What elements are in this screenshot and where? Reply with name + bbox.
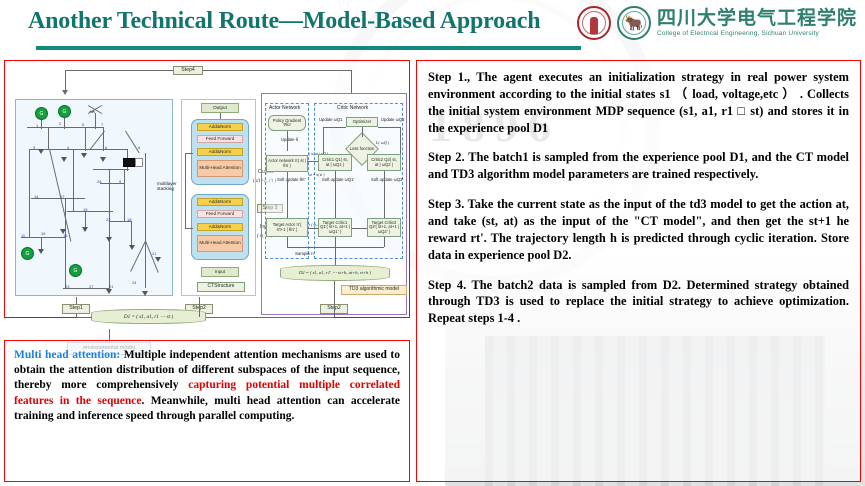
- wire-actor-critic-1: [308, 161, 318, 162]
- ct-add-norm-2: Add&Norm: [197, 148, 243, 156]
- wire-target-critics: [352, 228, 367, 229]
- bus-number: 5: [82, 122, 84, 127]
- diagram-panel: Step4 G G G G: [4, 60, 410, 318]
- critic-update-right: Update ωQ2: [381, 117, 405, 122]
- college-seal-icon: [617, 6, 651, 40]
- loss-expr-label: L( ωQ ): [376, 140, 389, 145]
- ct-add-norm-3: Add&Norm: [197, 198, 243, 206]
- grid-line-11: [145, 153, 146, 288]
- step-1-text: Step 1., The agent executes an initializ…: [428, 69, 849, 136]
- actor-soft-update-label: Soft update θπ': [277, 177, 306, 182]
- load-block-tail: [135, 158, 143, 167]
- bus-number: 16: [63, 233, 67, 238]
- critic1-soft-update-label: Soft update ωQ1': [322, 177, 354, 182]
- slide-root: 1896 Another Technical Route—Model-Based…: [0, 0, 865, 486]
- bus-number: 8: [138, 145, 140, 150]
- bus-number: 22: [106, 217, 110, 222]
- bus-number: 28: [97, 179, 101, 184]
- wire-tc2-down: [384, 237, 385, 247]
- generator-g4: G: [69, 264, 82, 277]
- grid-line-10: [124, 169, 125, 221]
- grid-line-12: [65, 198, 66, 288]
- generator-g2: G: [58, 105, 71, 118]
- bus-number: 21: [152, 251, 156, 256]
- bus-number: 11: [21, 233, 25, 238]
- load-arrow-1: [38, 149, 44, 154]
- grid-line-9: [109, 169, 110, 289]
- wire-step4-right: [203, 70, 351, 71]
- load-arrow-5: [38, 249, 44, 254]
- wire-critic2-soft: [384, 171, 385, 218]
- wire-step2-v: [199, 297, 200, 317]
- load-arrow-9: [106, 289, 112, 294]
- wire-step1-up: [76, 297, 77, 304]
- grid-line-1: [41, 120, 42, 129]
- load-arrow-12: [142, 291, 148, 296]
- experience-pool-d2: D2 = ( s1, a1, r1' ⋯ st+h, at+h, rt+h ): [280, 265, 390, 281]
- logo-text-block: 四川大学电气工程学院 College of Electrical Enginee…: [657, 9, 857, 38]
- experience-pool-d1: D1 = ( s1, a1, r1 ⋯ st ): [91, 309, 206, 324]
- bus-number: 3: [33, 145, 35, 150]
- wire-tc1-down: [335, 237, 336, 247]
- bus-number: 21: [109, 284, 113, 289]
- bus-number: 18: [127, 217, 131, 222]
- step-4-text: Step 4. The batch2 data is sampled from …: [428, 277, 849, 328]
- bus-number: 1: [36, 123, 38, 128]
- ct-structure-label: CTStructure: [197, 282, 245, 292]
- wire-actor-update: [287, 131, 288, 151]
- bus-number: 15: [41, 231, 45, 236]
- wire-step4-to-td3: [351, 70, 352, 93]
- ct-feed-forward-2: Feed Forward: [197, 210, 243, 218]
- critic-network-title: Critic Network: [337, 105, 368, 111]
- load-arrow-7: [82, 227, 88, 232]
- actor-update-label: Update θ: [281, 137, 298, 142]
- bus-number: 7: [101, 122, 103, 127]
- load-arrow-8: [106, 237, 112, 242]
- grid-line-6: [29, 149, 30, 237]
- title-underline: [36, 46, 581, 50]
- university-logo-group: 四川大学电气工程学院 College of Electrical Enginee…: [577, 6, 857, 40]
- slide-header: Another Technical Route—Model-Based Appr…: [0, 0, 865, 58]
- wire-step4-down: [65, 70, 66, 92]
- wire-d1-right: [206, 317, 334, 318]
- td3-model-label: TD3 algorithmic model: [341, 285, 407, 295]
- ct-input-box: Input: [201, 267, 239, 277]
- diagram-step4-box: Step4: [173, 66, 203, 75]
- grid-bus-d: [73, 149, 127, 150]
- wire-to-d2: [335, 247, 336, 265]
- generator-g1: G: [35, 107, 48, 120]
- optimizer-box: Optimizer: [346, 117, 378, 127]
- ct-multilayer-stacking-label: multilayer stacking: [157, 181, 185, 192]
- note-heading: Multi head attention:: [14, 349, 120, 361]
- bottom-step1-box: Step1: [62, 304, 90, 314]
- grid-line-3: [85, 127, 86, 151]
- grid-bus-e: [21, 237, 65, 238]
- wire-opt-left: [323, 127, 346, 128]
- target-actor-box: Target Actor π'( s't+1 | θπ' ): [266, 218, 308, 237]
- wire-stack-loop-v: [185, 153, 186, 228]
- wire-critic1-soft: [335, 171, 336, 218]
- critic2-soft-update-label: Soft update ωQ2': [371, 177, 403, 182]
- note-text: Multi head attention: Multiple independe…: [14, 348, 400, 424]
- load-arrow-4: [100, 157, 106, 162]
- bus-number: 17: [60, 194, 64, 199]
- sichuan-university-seal-icon: [577, 6, 611, 40]
- steps-panel: Step 1., The agent executes an initializ…: [416, 60, 861, 482]
- load-arrow-10: [129, 245, 135, 250]
- grid-bus-g: [67, 211, 113, 212]
- wire-actor-critic-2: [308, 228, 318, 229]
- wire-stack-loop-t: [185, 153, 193, 154]
- bus-number: 2: [59, 121, 61, 126]
- wind-turbine-mast: [95, 113, 96, 129]
- multi-head-attention-note-panel: Multi head attention: Multiple independe…: [4, 340, 410, 482]
- bus-number: 9: [119, 179, 121, 184]
- ct-add-norm-1: Add&Norm: [197, 123, 243, 131]
- grid-line-2: [64, 118, 65, 129]
- wire-step2b-v: [334, 297, 335, 317]
- ct-multi-head-1: Multi-Head Attention: [197, 160, 243, 177]
- sample-n-label: Sample n: [295, 251, 314, 256]
- page-title: Another Technical Route—Model-Based Appr…: [28, 8, 540, 35]
- wire-stack-loop-b: [185, 228, 193, 229]
- bus-number: 19: [83, 207, 87, 212]
- critic-update-left: Update ωQ1: [319, 117, 343, 122]
- wire-actor-soft: [287, 172, 288, 218]
- step-3-text: Step 3. Take the current state as the in…: [428, 196, 849, 263]
- arrow-into-grid: [62, 90, 68, 95]
- ct-output-box: Output: [201, 103, 239, 113]
- logo-english-name: College of Electrical Engineering, Sichu…: [657, 31, 857, 38]
- target-critic1-box: Target Critic1 Q1'( st+1, at+1 | ωQ1' ): [318, 218, 352, 237]
- target-critic2-box: Target Critic2 Q2'( st+1, at+1 | ωQ2' ): [367, 218, 401, 237]
- critic2-box: Critic2 Q2( st, at | ωQ2 ): [367, 154, 401, 171]
- bus-number: 27: [89, 284, 93, 289]
- bus-number: 4: [67, 145, 69, 150]
- load-arrow-2: [81, 153, 87, 158]
- load-arrow-3: [61, 157, 67, 162]
- grid-line-7: [73, 149, 74, 211]
- grid-bus-h: [63, 288, 109, 289]
- bus-number: 14: [34, 194, 38, 199]
- bus-number: 6: [105, 145, 107, 150]
- load-arrow-11: [155, 257, 161, 262]
- ct-multi-head-2: Multi-Head Attention: [197, 235, 243, 252]
- logo-chinese-name: 四川大学电气工程学院: [657, 9, 857, 28]
- grid-line-5: [48, 127, 49, 149]
- grid-bus-f: [31, 198, 85, 199]
- bus-number: 23: [65, 284, 69, 289]
- wire-d2-down: [334, 281, 335, 297]
- grid-line-14: [41, 237, 42, 249]
- wire-step1-d1: [76, 317, 92, 318]
- grid-line-15: [131, 221, 132, 245]
- bus-number: 24: [132, 280, 136, 285]
- ct-add-norm-4: Add&Norm: [197, 223, 243, 231]
- wire-opt-right: [378, 127, 400, 128]
- generator-g3: G: [21, 247, 34, 260]
- actor-network-title: Actor Network: [269, 105, 300, 111]
- actor-network-box: Actor network π( st | θπ ): [266, 155, 308, 172]
- ct-feed-forward-1: Feed Forward: [197, 135, 243, 143]
- wire-ta-down: [287, 237, 288, 247]
- architecture-diagram: Step4 G G G G: [5, 61, 409, 317]
- step-2-text: Step 2. The batch1 is sampled from the e…: [428, 149, 849, 183]
- wire-opt-right-down: [400, 127, 401, 154]
- wire-opt-to-loss: [362, 127, 363, 137]
- policy-gradient-box: Policy Gradient ∇θJ: [268, 115, 306, 131]
- critic1-box: Critic1 Q1( st, at | ωQ1 ): [318, 154, 352, 171]
- wire-step4-left: [65, 70, 173, 71]
- wire-opt-left-down: [323, 127, 324, 154]
